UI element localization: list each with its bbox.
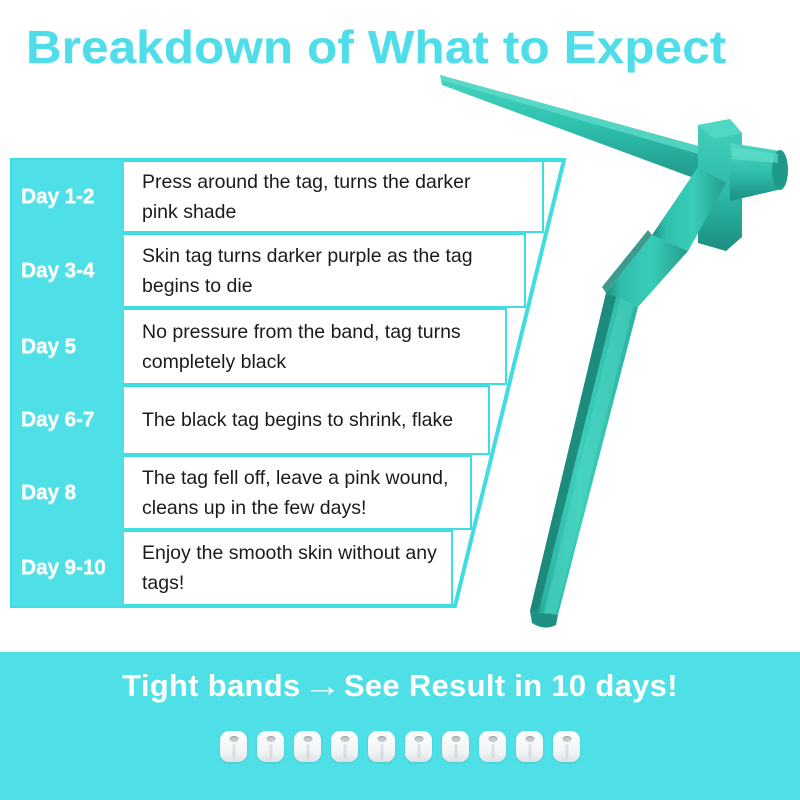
description-line: Press around the tag, turns the darker [142,167,534,197]
band-crease [565,744,568,758]
band-crease [269,744,272,758]
description-cell: No pressure from the band, tag turnscomp… [124,308,507,385]
day-label-cell: Day 5 [12,308,124,385]
removal-band [220,731,247,762]
description-line: pink shade [142,197,534,227]
removal-band [516,731,543,762]
table-rows: Day 1-2Press around the tag, turns the d… [12,160,564,606]
table-row: Day 5No pressure from the band, tag turn… [12,308,507,385]
removal-band [479,731,506,762]
day-label: Day 1-2 [21,185,94,209]
day-label: Day 8 [21,481,76,505]
bottom-banner: Tight bands→See Result in 10 days! [0,652,800,800]
band-hole [229,736,238,742]
day-label: Day 5 [21,335,76,359]
table-row: Day 6-7The black tag begins to shrink, f… [12,385,490,455]
description-line: begins to die [142,271,516,301]
band-crease [306,744,309,758]
description-line: completely black [142,347,497,377]
day-label-cell: Day 1-2 [12,160,124,233]
band-row [0,731,800,762]
infographic-page: Breakdown of What to Expect Day 1-2Press… [0,0,800,800]
band-crease [232,744,235,758]
description-cell: The tag fell off, leave a pink wound,cle… [124,455,472,530]
table-row: Day 9-10Enjoy the smooth skin without an… [12,530,453,606]
table-row: Day 3-4Skin tag turns darker purple as t… [12,233,526,308]
band-hole [303,736,312,742]
description-line: tags! [142,568,443,598]
description-cell: Press around the tag, turns the darkerpi… [124,160,544,233]
band-crease [528,744,531,758]
band-hole [562,736,571,742]
table-row: Day 1-2Press around the tag, turns the d… [12,160,544,233]
day-label-cell: Day 9-10 [12,530,124,606]
banner-text-left: Tight bands [122,668,300,703]
description-line: Enjoy the smooth skin without any [142,538,443,568]
day-label: Day 9-10 [21,556,106,580]
table-row: Day 8The tag fell off, leave a pink woun… [12,455,472,530]
day-label: Day 3-4 [21,259,94,283]
description-line: Skin tag turns darker purple as the tag [142,241,516,271]
removal-band [553,731,580,762]
band-hole [340,736,349,742]
description-line: The tag fell off, leave a pink wound, [142,463,462,493]
day-label: Day 6-7 [21,408,94,432]
band-hole [266,736,275,742]
removal-band [368,731,395,762]
day-label-cell: Day 6-7 [12,385,124,455]
removal-band [442,731,469,762]
band-hole [377,736,386,742]
band-crease [454,744,457,758]
day-label-cell: Day 3-4 [12,233,124,308]
band-crease [343,744,346,758]
band-crease [491,744,494,758]
band-hole [488,736,497,742]
band-hole [525,736,534,742]
description-cell: Enjoy the smooth skin without anytags! [124,530,453,606]
schedule-table: Day 1-2Press around the tag, turns the d… [0,0,800,640]
band-crease [380,744,383,758]
removal-band [405,731,432,762]
banner-headline: Tight bands→See Result in 10 days! [0,668,800,704]
description-line: The black tag begins to shrink, flake [142,405,480,435]
arrow-icon: → [295,668,349,704]
description-line: No pressure from the band, tag turns [142,317,497,347]
description-cell: Skin tag turns darker purple as the tagb… [124,233,526,308]
band-hole [451,736,460,742]
removal-band [294,731,321,762]
removal-band [331,731,358,762]
band-hole [414,736,423,742]
banner-text-right: See Result in 10 days! [344,668,678,703]
description-cell: The black tag begins to shrink, flake [124,385,490,455]
day-label-cell: Day 8 [12,455,124,530]
description-line: cleans up in the few days! [142,493,462,523]
removal-band [257,731,284,762]
band-crease [417,744,420,758]
